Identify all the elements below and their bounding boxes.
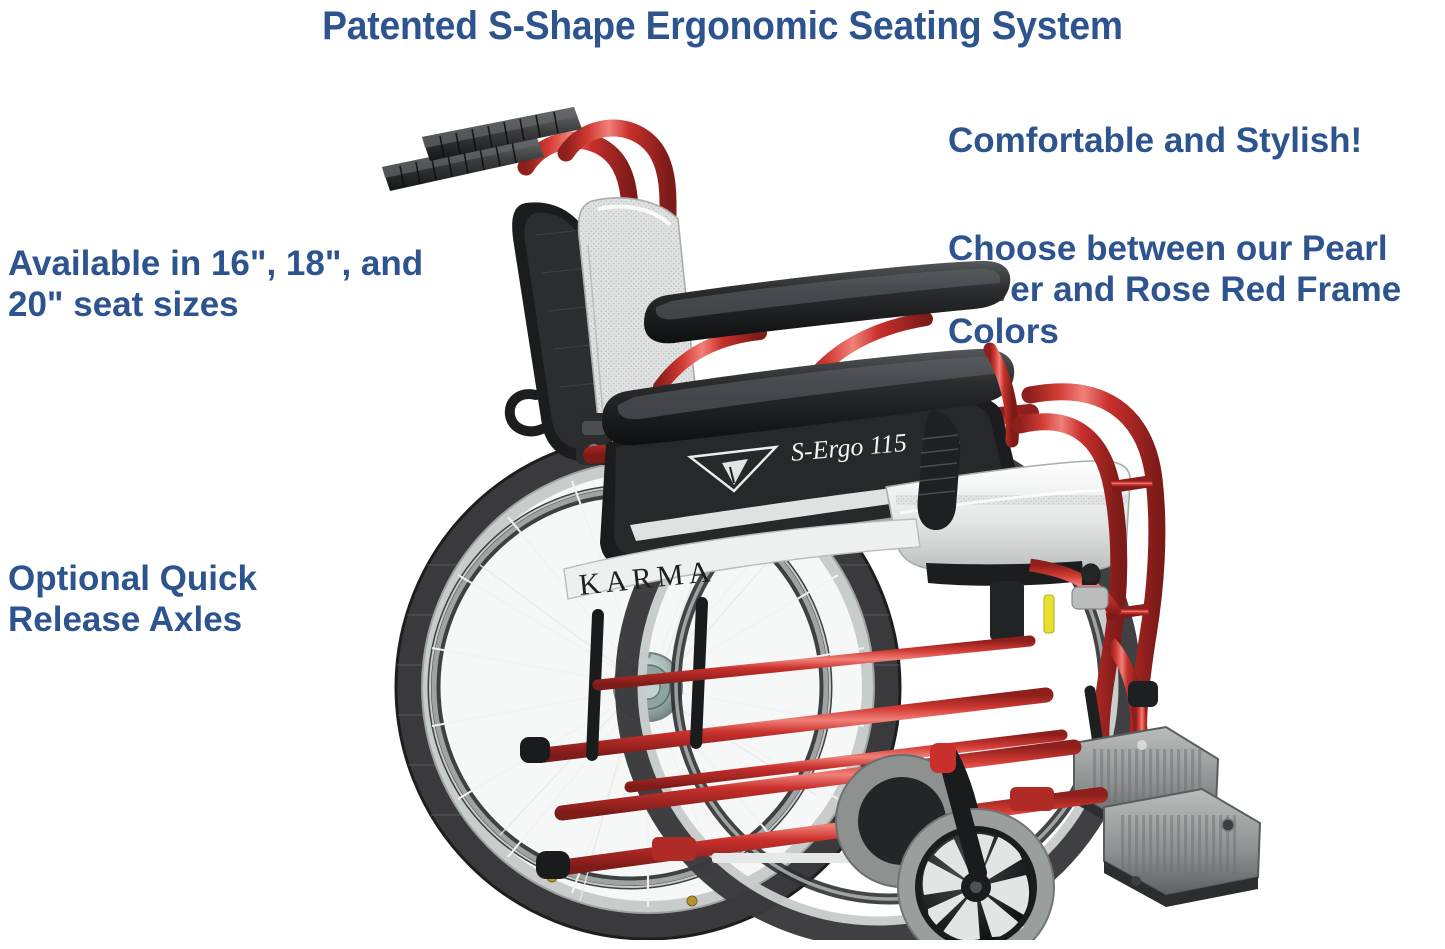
front-caster-wheel xyxy=(836,743,1054,940)
infographic-canvas: Patented S-Shape Ergonomic Seating Syste… xyxy=(0,0,1445,949)
footplate-near xyxy=(1104,789,1260,907)
callout-quick-release-axles: Optional Quick Release Axles xyxy=(8,558,348,641)
armrest-pad-far xyxy=(644,261,1010,343)
page-title: Patented S-Shape Ergonomic Seating Syste… xyxy=(51,3,1395,50)
product-image-wheelchair: S-Ergo 115 xyxy=(330,95,1310,940)
